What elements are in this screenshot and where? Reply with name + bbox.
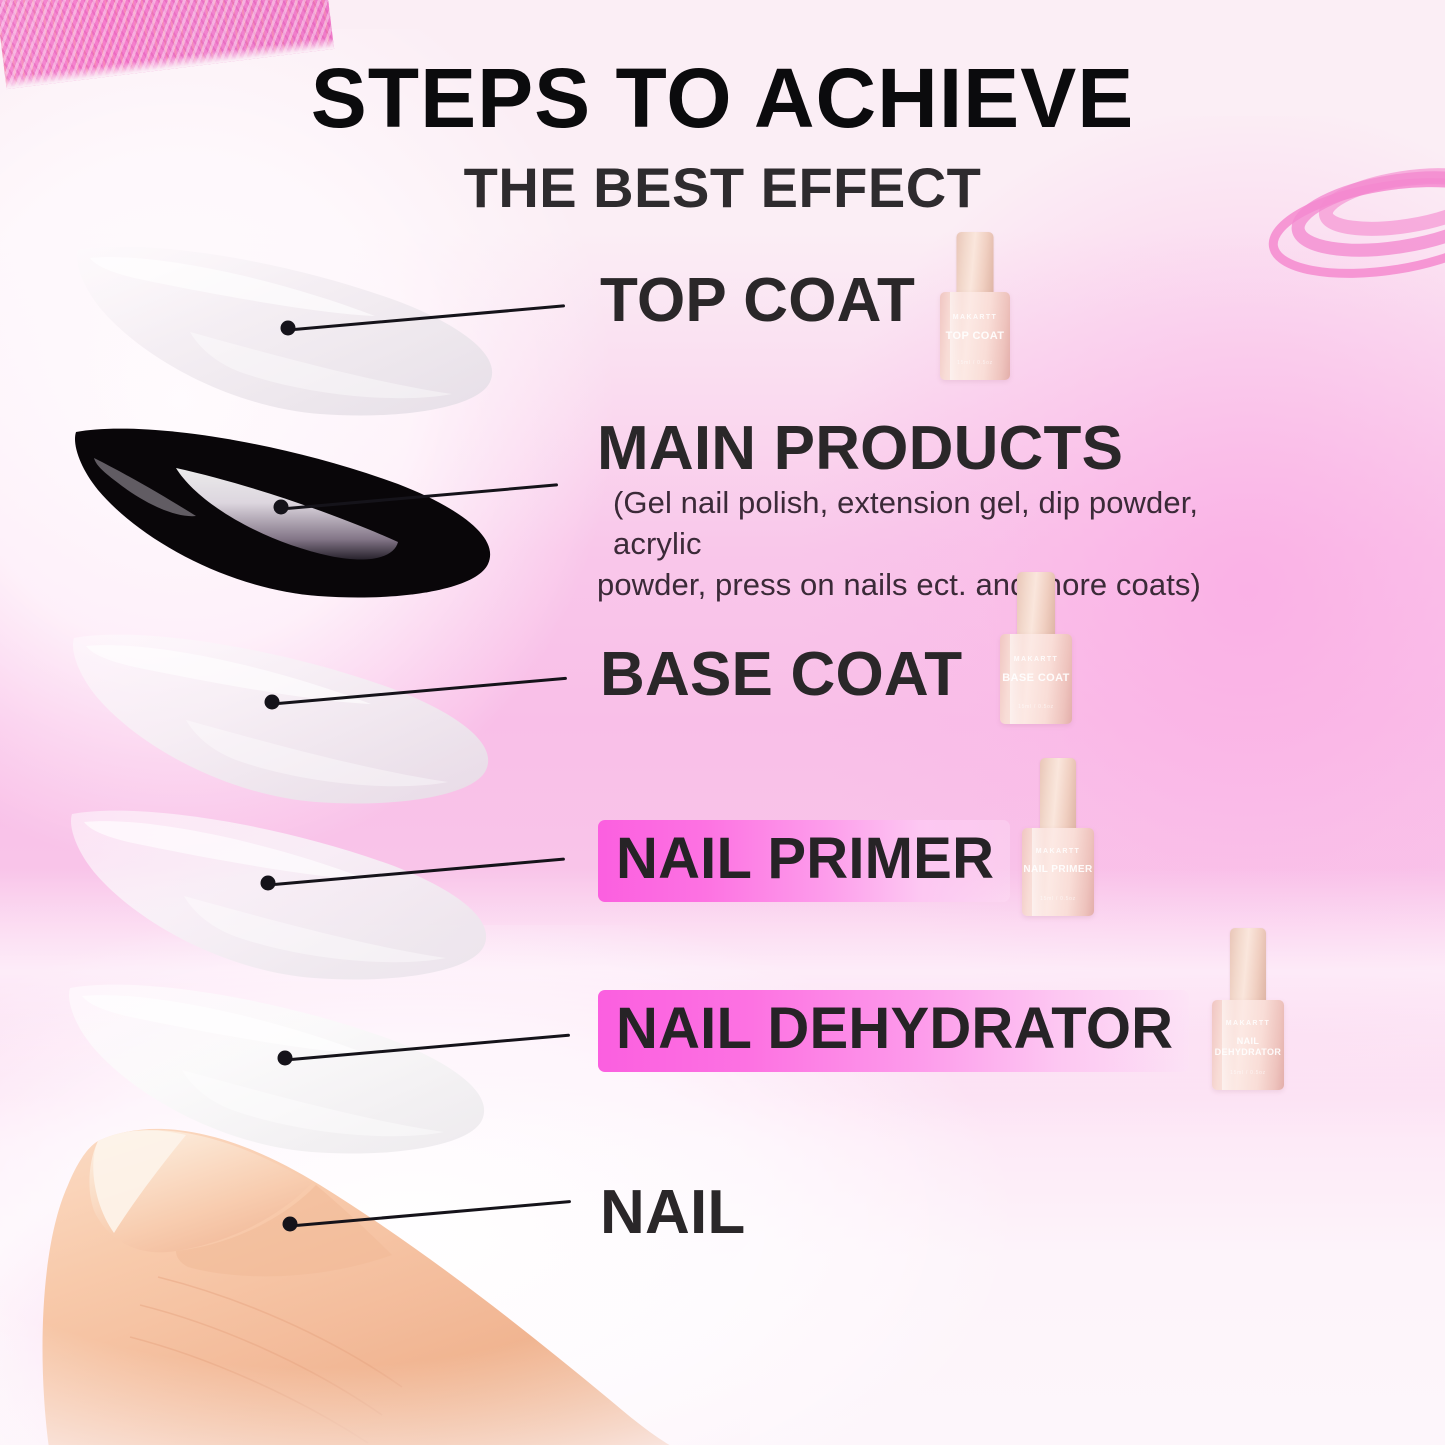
bottle-name-nail-primer: NAIL PRIMER [1022,864,1094,875]
label-nail-primer: NAIL PRIMER [598,820,1010,902]
bottle-nail-primer: MAKARTT NAIL PRIMER 15ml / 0.5oz [1022,758,1094,916]
bottle-top-coat: MAKARTT TOP COAT 15ml / 0.5oz [940,232,1010,380]
bottle-size-nail-dehydrator: 15ml / 0.5oz [1212,1070,1284,1076]
bottle-body-nail-primer: MAKARTT NAIL PRIMER 15ml / 0.5oz [1022,828,1094,916]
bottle-size-nail-primer: 15ml / 0.5oz [1022,896,1094,902]
description-line-2: powder, press on nails ect. and more coa… [597,565,1273,606]
label-base-coat: BASE COAT [600,644,962,706]
connector-base-coat [272,694,560,710]
bottle-size-base-coat: 15ml / 0.5oz [1000,704,1072,710]
page-title: STEPS TO ACHIEVE [0,56,1445,140]
connector-top-coat [288,320,563,336]
bottle-size-top-coat: 15ml / 0.5oz [940,360,1010,366]
label-top-coat: TOP COAT [600,270,915,332]
bottle-body-nail-dehydrator: MAKARTT NAIL DEHYDRATOR 15ml / 0.5oz [1212,1000,1284,1090]
label-nail: NAIL [600,1182,745,1244]
bottle-nail-dehydrator: MAKARTT NAIL DEHYDRATOR 15ml / 0.5oz [1212,928,1284,1090]
connector-nail [290,1216,568,1232]
bottle-brand-nail-primer: MAKARTT [1022,848,1094,855]
label-main-products: MAIN PRODUCTS [597,418,1123,480]
main-products-description: (Gel nail polish, extension gel, dip pow… [613,483,1273,606]
finger-photo [0,1075,750,1445]
bottle-brand-nail-dehydrator: MAKARTT [1212,1020,1284,1027]
nail-tip-main-products [68,418,518,618]
nail-tip-base-coat [66,624,516,824]
label-nail-dehydrator-wrap: NAIL DEHYDRATOR [598,990,1189,1072]
page-subtitle: THE BEST EFFECT [0,160,1445,216]
connector-main-products [281,499,553,515]
bottle-body-top-coat: MAKARTT TOP COAT 15ml / 0.5oz [940,292,1010,380]
label-nail-primer-wrap: NAIL PRIMER [598,820,1010,902]
connector-nail-primer [268,875,558,891]
bottle-name-nail-dehydrator: NAIL DEHYDRATOR [1212,1036,1284,1059]
connector-nail-dehydrator [285,1050,567,1066]
description-line-1: (Gel nail polish, extension gel, dip pow… [613,483,1273,565]
bottle-brand-base-coat: MAKARTT [1000,656,1072,663]
infographic-canvas: STEPS TO ACHIEVE THE BEST EFFECT TOP COA… [0,0,1445,1445]
nail-tip-nail-primer [64,800,514,1000]
bottle-name-top-coat: TOP COAT [940,330,1010,342]
label-nail-dehydrator: NAIL DEHYDRATOR [598,990,1189,1072]
bottle-name-base-coat: BASE COAT [1000,672,1072,684]
bottle-base-coat: MAKARTT BASE COAT 15ml / 0.5oz [1000,572,1072,724]
bottle-brand-top-coat: MAKARTT [940,314,1010,321]
bottle-body-base-coat: MAKARTT BASE COAT 15ml / 0.5oz [1000,634,1072,724]
nail-tip-top-coat [70,236,520,436]
